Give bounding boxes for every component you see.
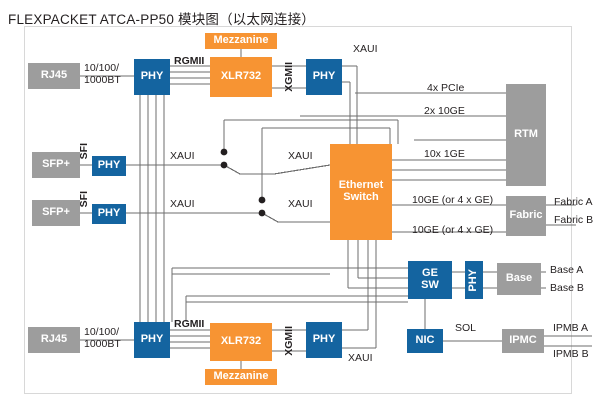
block-phy-bot-1[interactable]: PHY bbox=[134, 322, 170, 358]
label-lbl-fabric-b: Fabric B bbox=[554, 214, 593, 226]
block-label: RJ45 bbox=[41, 334, 67, 346]
block-ipmc[interactable]: IPMC bbox=[502, 329, 544, 353]
label-lbl-ipmb-a: IPMB A bbox=[553, 322, 588, 334]
label-lbl-base-a: Base A bbox=[550, 264, 583, 276]
block-phy-sfp-1[interactable]: PHY bbox=[92, 156, 126, 176]
block-rj45-top[interactable]: RJ45 bbox=[28, 63, 80, 89]
block-sfp-2[interactable]: SFP+ bbox=[32, 200, 80, 226]
block-phy-sfp-2[interactable]: PHY bbox=[92, 204, 126, 224]
label-lbl-10-100-1000-top: 10/100/1000BT bbox=[84, 62, 121, 86]
block-xlr732-top[interactable]: XLR732 bbox=[210, 57, 272, 97]
block-label: SFP+ bbox=[42, 207, 70, 219]
label-lbl-10x-1ge: 10x 1GE bbox=[424, 148, 465, 160]
label-lbl-4x-pcie: 4x PCIe bbox=[427, 82, 464, 94]
block-label: PHY bbox=[141, 71, 164, 83]
label-lbl-sfi-1: SFI bbox=[78, 143, 90, 159]
block-sfp-1[interactable]: SFP+ bbox=[32, 152, 80, 178]
block-xlr732-bot[interactable]: XLR732 bbox=[210, 323, 272, 361]
block-label: GESW bbox=[421, 268, 439, 291]
block-label: PHY bbox=[313, 71, 336, 83]
label-lbl-xgmii-bot: XGMII bbox=[283, 326, 295, 356]
label-lbl-ipmb-b: IPMB B bbox=[553, 348, 589, 360]
label-lbl-10-100-1000-bot: 10/100/1000BT bbox=[84, 326, 121, 350]
block-phy-bot-2[interactable]: PHY bbox=[306, 322, 342, 358]
label-lbl-xaui-botright: XAUI bbox=[348, 352, 373, 364]
block-mezzanine-top[interactable]: Mezzanine bbox=[205, 33, 277, 49]
block-label: Mezzanine bbox=[213, 35, 268, 47]
label-lbl-rgmii-bot: RGMII bbox=[174, 318, 204, 330]
label-lbl-rgmii-top: RGMII bbox=[174, 55, 204, 67]
block-label: Fabric bbox=[509, 210, 542, 222]
block-base[interactable]: Base bbox=[497, 263, 541, 295]
block-ge-sw[interactable]: GESW bbox=[408, 261, 452, 299]
block-label: NIC bbox=[416, 335, 435, 347]
label-lbl-fabric-a: Fabric A bbox=[554, 196, 593, 208]
label-lbl-xaui-left-2: XAUI bbox=[170, 198, 195, 210]
block-ethernet-switch[interactable]: EthernetSwitch bbox=[330, 144, 392, 240]
label-lbl-2x-10ge: 2x 10GE bbox=[424, 105, 465, 117]
block-label: EthernetSwitch bbox=[339, 180, 384, 203]
block-phy-base[interactable]: PHY bbox=[465, 261, 483, 299]
block-label: PHY bbox=[313, 334, 336, 346]
block-fabric[interactable]: Fabric bbox=[506, 196, 546, 236]
label-lbl-xaui-topright: XAUI bbox=[353, 43, 378, 55]
block-rj45-bot[interactable]: RJ45 bbox=[28, 327, 80, 353]
label-lbl-sfi-2: SFI bbox=[78, 191, 90, 207]
label-lbl-base-b: Base B bbox=[550, 282, 584, 294]
block-label: PHY bbox=[468, 269, 480, 292]
block-nic[interactable]: NIC bbox=[407, 329, 443, 353]
block-label: RJ45 bbox=[41, 70, 67, 82]
block-label: PHY bbox=[98, 208, 121, 220]
label-lbl-xgmii-top: XGMII bbox=[283, 62, 295, 92]
label-lbl-10ge-a: 10GE (or 4 x GE) bbox=[412, 194, 493, 206]
block-phy-top-2[interactable]: PHY bbox=[306, 59, 342, 95]
block-label: RTM bbox=[514, 129, 538, 141]
block-label: SFP+ bbox=[42, 159, 70, 171]
block-label: XLR732 bbox=[221, 71, 261, 83]
block-label: PHY bbox=[141, 334, 164, 346]
block-label: Mezzanine bbox=[213, 371, 268, 383]
label-lbl-sol: SOL bbox=[455, 322, 476, 334]
label-lbl-xaui-mid-2: XAUI bbox=[288, 198, 313, 210]
block-label: Base bbox=[506, 273, 532, 285]
block-label: PHY bbox=[98, 160, 121, 172]
label-lbl-xaui-left-1: XAUI bbox=[170, 150, 195, 162]
block-rtm[interactable]: RTM bbox=[506, 84, 546, 186]
block-phy-top-1[interactable]: PHY bbox=[134, 59, 170, 95]
block-mezzanine-bot[interactable]: Mezzanine bbox=[205, 369, 277, 385]
block-label: IPMC bbox=[509, 335, 537, 347]
relay-contact-dots bbox=[221, 149, 266, 217]
label-lbl-xaui-mid-1: XAUI bbox=[288, 150, 313, 162]
block-label: XLR732 bbox=[221, 336, 261, 348]
label-lbl-10ge-b: 10GE (or 4 x GE) bbox=[412, 224, 493, 236]
diagram-root: FLEXPACKET ATCA-PP50 模块图（以太网连接） bbox=[0, 0, 600, 404]
